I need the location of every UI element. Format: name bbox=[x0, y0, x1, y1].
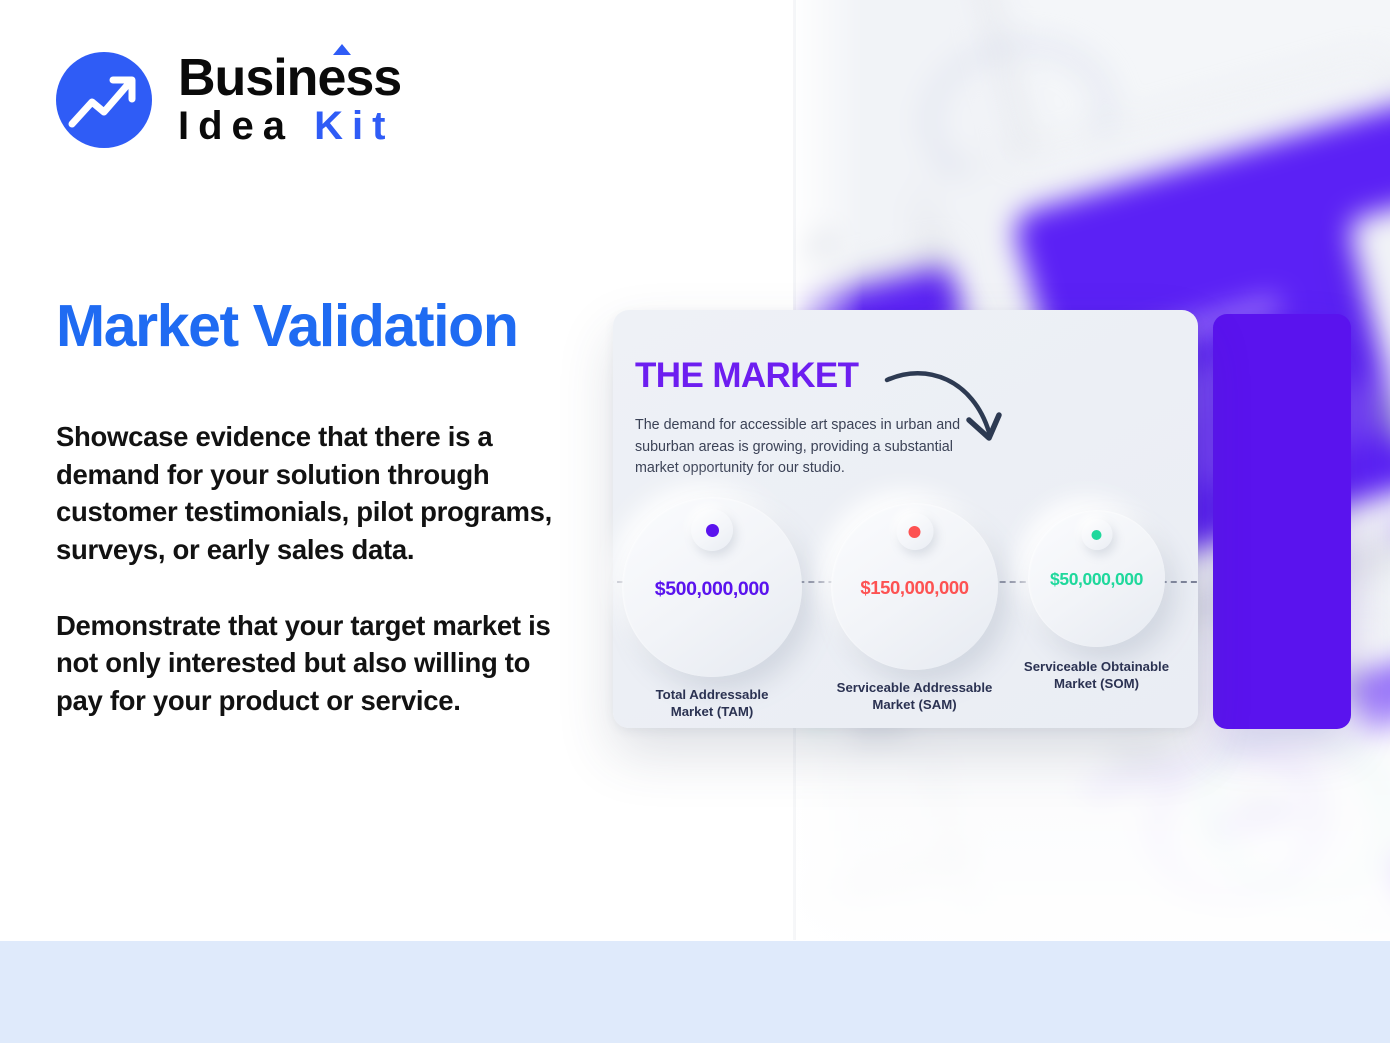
bubble-knob-som bbox=[1081, 519, 1112, 550]
bubble-label-tam-line2: Market (TAM) bbox=[671, 704, 754, 719]
bubble-label-som-line2: Market (SOM) bbox=[1054, 676, 1139, 691]
market-bubble-tam[interactable]: $500,000,000 Total Addressable Market (T… bbox=[622, 497, 802, 677]
som-indicator-dot bbox=[1092, 530, 1102, 540]
bubble-knob-sam bbox=[896, 513, 933, 550]
bubble-label-sam: Serviceable Addressable Market (SAM) bbox=[837, 680, 993, 713]
bubble-value-sam: $150,000,000 bbox=[860, 577, 968, 599]
bubble-knob-tam bbox=[691, 509, 733, 551]
bubble-label-sam-line2: Market (SAM) bbox=[872, 697, 956, 712]
bubble-circle-tam: $500,000,000 bbox=[622, 497, 802, 677]
bubble-label-tam-line1: Total Addressable bbox=[656, 687, 769, 702]
bubble-value-tam: $500,000,000 bbox=[655, 578, 770, 601]
tam-indicator-dot bbox=[706, 524, 719, 537]
market-bubble-sam[interactable]: $150,000,000 Serviceable Addressable Mar… bbox=[831, 503, 998, 670]
slide-canvas: Business Idea Kit Market Validation Show… bbox=[0, 0, 1390, 1043]
bottom-accent-band bbox=[0, 941, 1390, 1043]
market-bubble-som[interactable]: $50,000,000 Serviceable Obtainable Marke… bbox=[1028, 510, 1165, 647]
bubble-label-tam: Total Addressable Market (TAM) bbox=[656, 687, 769, 720]
bubble-circle-sam: $150,000,000 bbox=[831, 503, 998, 670]
bubble-label-som: Serviceable Obtainable Market (SOM) bbox=[1024, 659, 1169, 692]
sam-indicator-dot bbox=[909, 526, 921, 538]
market-bubbles-group: $500,000,000 Total Addressable Market (T… bbox=[0, 0, 1390, 1043]
bubble-label-som-line1: Serviceable Obtainable bbox=[1024, 659, 1169, 674]
bubble-label-sam-line1: Serviceable Addressable bbox=[837, 680, 993, 695]
bubble-value-som: $50,000,000 bbox=[1050, 569, 1143, 590]
bubble-circle-som: $50,000,000 bbox=[1028, 510, 1165, 647]
